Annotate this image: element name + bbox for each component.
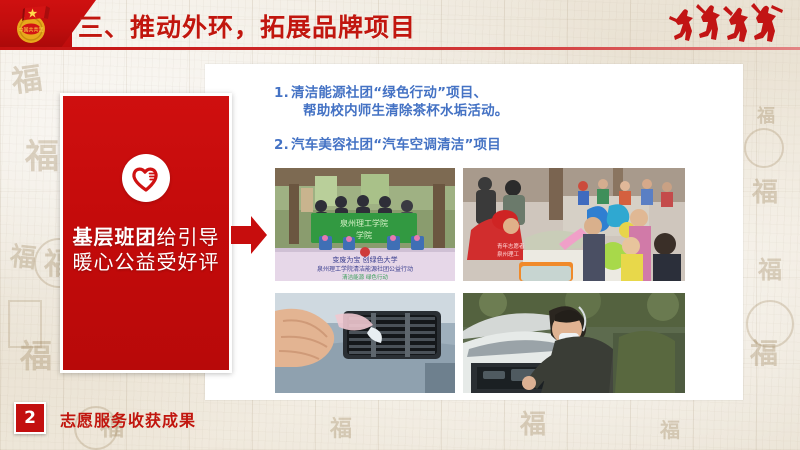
highlight-card: 基层班团给引导 暖心公益受好评 bbox=[60, 93, 232, 373]
svg-text:泉州理工学院: 泉州理工学院 bbox=[340, 218, 388, 228]
seal-decoration bbox=[744, 128, 784, 168]
photo-car-engine-maintenance bbox=[463, 293, 685, 393]
fu-character-decoration: 福 bbox=[330, 418, 352, 440]
bullet-list: 1. 清洁能源社团“绿色行动”项目、 帮助校内师生清除茶杯水垢活动。 2. 汽车… bbox=[274, 84, 704, 154]
photo-volunteers-balloons-children: 青年志愿者 泉州理工 bbox=[463, 168, 685, 281]
fu-character-decoration: 福 bbox=[752, 180, 778, 206]
list-item: 1. 清洁能源社团“绿色行动”项目、 帮助校内师生清除茶杯水垢活动。 bbox=[274, 84, 704, 120]
highlight-card-line1-strong: 基层班团 bbox=[73, 225, 157, 249]
svg-text:清洁能源 绿色行动: 清洁能源 绿色行动 bbox=[342, 273, 388, 281]
photo-car-ac-vent-cleaning bbox=[275, 293, 455, 393]
slide-canvas: 福 福 福 福 福 福 福 福 福 福 福 福 福 中国共青团 三、推动外环 bbox=[0, 0, 800, 450]
highlight-card-line1-rest: 给引导 bbox=[157, 225, 220, 249]
communist-youth-league-emblem: 中国共青团 bbox=[10, 4, 54, 46]
dancing-figures-decoration bbox=[668, 2, 786, 48]
fu-character-decoration: 福 bbox=[757, 108, 775, 126]
fu-character-decoration: 福 bbox=[25, 140, 59, 174]
fu-character-decoration: 福 bbox=[758, 258, 782, 282]
svg-text:泉州理工学院清洁能源社团公益行动: 泉州理工学院清洁能源社团公益行动 bbox=[317, 265, 413, 273]
list-item-number: 2. bbox=[274, 136, 291, 154]
fu-character-decoration: 福 bbox=[10, 64, 44, 98]
seal-decoration bbox=[746, 300, 794, 348]
list-item-number: 1. bbox=[274, 84, 291, 102]
footer-title: 志愿服务收获成果 bbox=[60, 407, 196, 431]
page-title: 三、推动外环，拓展品牌项目 bbox=[78, 8, 416, 44]
page-number-badge: 2 bbox=[14, 402, 46, 434]
svg-text:中国共青团: 中国共青团 bbox=[18, 27, 43, 34]
list-item: 2. 汽车美容社团“汽车空调清洁”项目 bbox=[274, 136, 704, 154]
svg-text:学院: 学院 bbox=[356, 230, 372, 240]
fu-character-decoration: 福 bbox=[9, 244, 38, 273]
list-item-line1: 汽车美容社团“汽车空调清洁”项目 bbox=[291, 137, 501, 153]
photo-green-banner-ceremony: 泉州理工学院 学院 变废为宝 创绿色大学 泉州理工学院清洁能源社团公益行动 清洁… bbox=[275, 168, 455, 281]
red-right-arrow-icon bbox=[231, 216, 267, 254]
list-item-line2: 帮助校内师生清除茶杯水垢活动。 bbox=[291, 102, 704, 120]
highlight-card-text: 基层班团给引导 暖心公益受好评 bbox=[63, 225, 229, 275]
list-item-text: 清洁能源社团“绿色行动”项目、 帮助校内师生清除茶杯水垢活动。 bbox=[291, 84, 704, 120]
svg-text:泉州理工: 泉州理工 bbox=[497, 250, 520, 258]
list-item-text: 汽车美容社团“汽车空调清洁”项目 bbox=[291, 136, 704, 154]
fu-character-decoration: 福 bbox=[660, 420, 680, 440]
fu-character-decoration: 福 bbox=[520, 412, 546, 438]
slide-header: 中国共青团 三、推动外环，拓展品牌项目 bbox=[0, 0, 800, 50]
highlight-card-line2: 暖心公益受好评 bbox=[63, 250, 229, 275]
heart-hand-icon bbox=[122, 154, 170, 202]
seal-decoration bbox=[8, 300, 42, 348]
highlight-card-line1: 基层班团给引导 bbox=[63, 225, 229, 250]
list-item-line1: 清洁能源社团“绿色行动”项目、 bbox=[291, 85, 487, 101]
svg-text:变废为宝 创绿色大学: 变废为宝 创绿色大学 bbox=[332, 255, 397, 264]
svg-text:青年志愿者: 青年志愿者 bbox=[497, 242, 525, 250]
